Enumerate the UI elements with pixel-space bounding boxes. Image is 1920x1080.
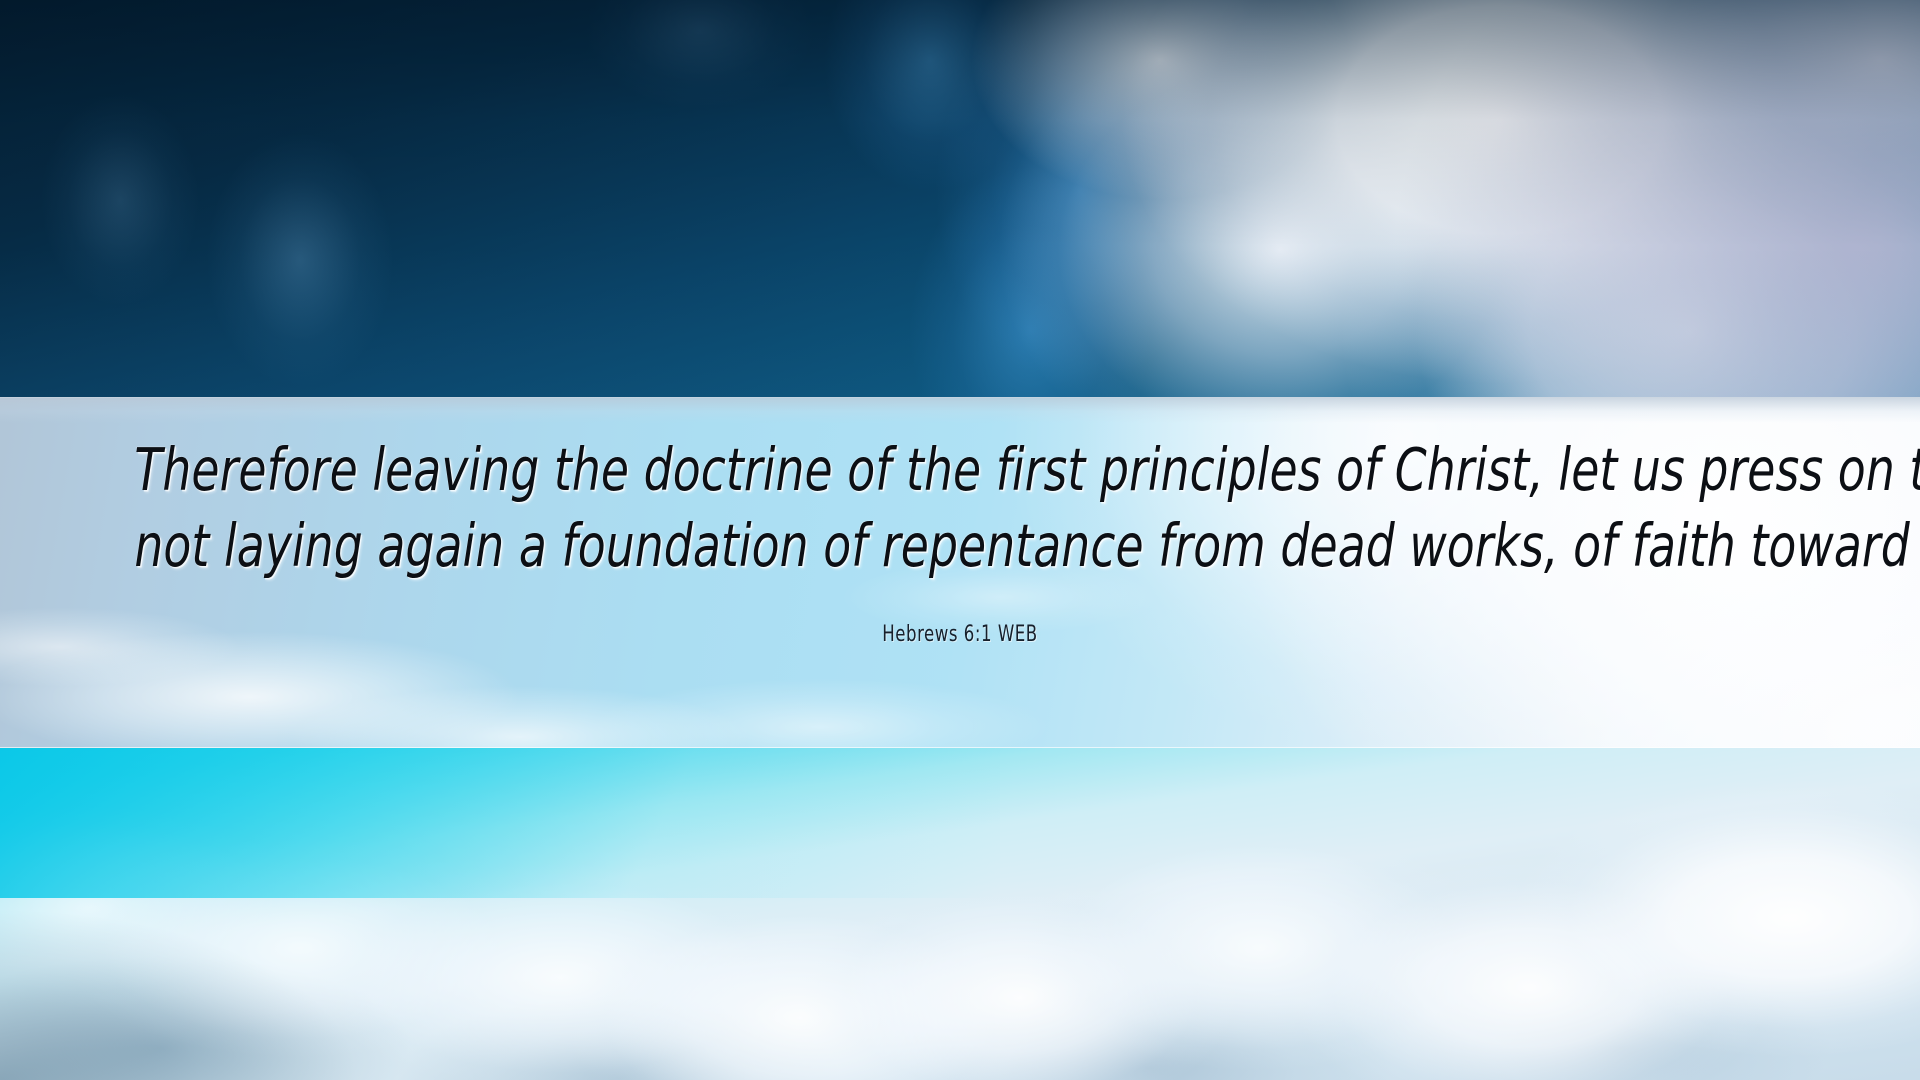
- band-top-fade: [0, 397, 1920, 423]
- verse-text-block: Therefore leaving the doctrine of the fi…: [0, 432, 1920, 584]
- bottom-sky-shadow-left: [0, 880, 420, 1080]
- verse-line-1: Therefore leaving the doctrine of the fi…: [134, 432, 1785, 508]
- top-sky-background: [0, 0, 1920, 398]
- verse-line-2: not laying again a foundation of repenta…: [134, 508, 1785, 584]
- bottom-sky-cyan-highlight: [0, 748, 1000, 898]
- top-sky-vignette: [0, 0, 1920, 398]
- verse-image-canvas: Therefore leaving the doctrine of the fi…: [0, 0, 1920, 1080]
- verse-reference: Hebrews 6:1 WEB: [154, 620, 1767, 650]
- bottom-sky-background: [0, 748, 1920, 1080]
